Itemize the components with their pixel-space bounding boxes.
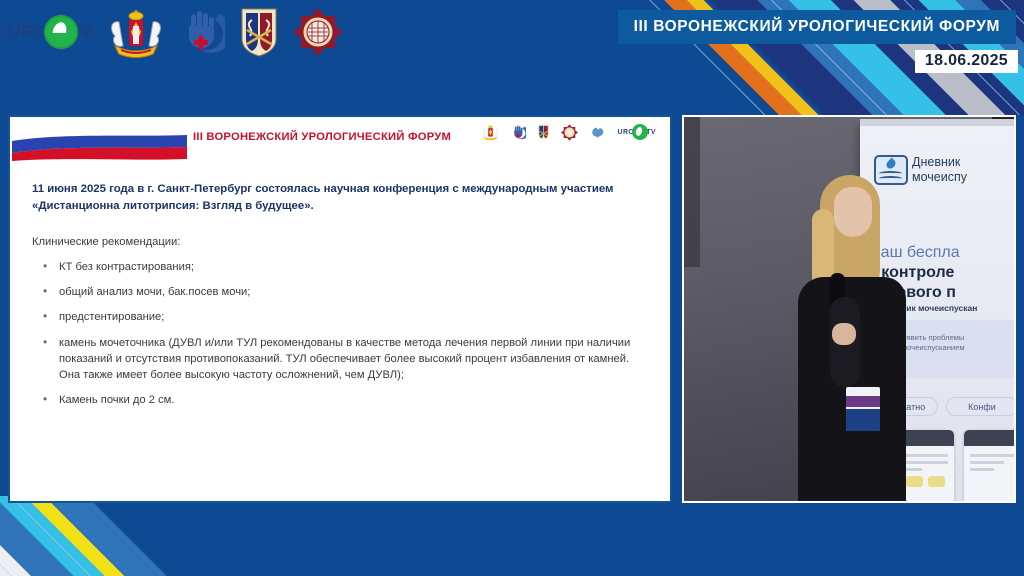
list-item: предстентирование; [32,309,648,325]
russian-flag-ribbon-icon [12,123,187,161]
date-badge: 18.06.2025 [915,50,1018,73]
lanyard [860,319,863,389]
urotv-green-ball-icon [632,124,648,140]
badge-band [846,396,880,407]
urotv-prefix: URO [8,22,49,42]
forum-title-text: III ВОРОНЕЖСКИЙ УРОЛОГИЧЕСКИЙ ФОРУМ [634,18,1000,36]
dark-red-rosette-emblem [561,124,578,141]
blue-butterfly-emblem [589,124,606,141]
slide-lead-paragraph: 11 июня 2025 года в г. Санкт-Петербург с… [32,181,632,214]
blue-hand-red-cross-emblem [179,8,225,56]
dark-left-edge [684,117,700,267]
bottom-stripe-decoration [0,496,1024,576]
slide-logo-row: URO TV [481,123,656,141]
banner-logo-title-line1: Дневник [912,155,967,170]
phone-line [970,468,994,471]
slide-subheading: Клинические рекомендации: [32,234,648,250]
blue-red-shield-emblem [239,6,279,58]
slide-body: 11 июня 2025 года в г. Санкт-Петербург с… [10,169,670,408]
phone-swatch [928,476,945,487]
list-item: Камень почки до 2 см. [32,392,648,408]
dark-red-rosette-emblem [293,7,343,57]
phone-mockup [964,430,1016,503]
blue-red-shield-emblem [537,123,550,141]
voronezh-coat-of-arms-emblem [481,123,500,141]
urotv-logo: URO TV [617,124,656,140]
speaker-figure [790,169,910,503]
badge-card [846,409,880,431]
banner-logo-title-line2: мочеиспу [912,170,967,185]
slide-title-text: III ВОРОНЕЖСКИЙ УРОЛОГИЧЕСКИЙ ФОРУМ [193,131,451,143]
list-item: камень мочеточника (ДУВЛ и/или ТУЛ реком… [32,335,648,384]
voronezh-coat-of-arms-emblem [107,6,165,58]
list-item: КТ без контрастирования; [32,259,648,275]
date-text: 18.06.2025 [925,52,1008,69]
presentation-slide[interactable]: III ВОРОНЕЖСКИЙ УРОЛОГИЧЕСКИЙ ФОРУМ [8,115,672,503]
hand [832,323,856,345]
slide-header: III ВОРОНЕЖСКИЙ УРОЛОГИЧЕСКИЙ ФОРУМ [10,117,670,169]
speaker-camera-feed[interactable]: Дневник мочеиспу Ваш беспла в контроле м… [682,115,1016,503]
banner-logo-title: Дневник мочеиспу [912,155,967,185]
banner-top-rail [860,119,1016,126]
phone-line [970,454,1016,457]
banner-pill-confidential: Конфи [946,397,1016,416]
phone-content [970,454,1016,475]
phone-header-bar [964,430,1016,446]
urotv-green-ball-icon [44,15,78,49]
list-item: общий анализ мочи, бак.посев мочи; [32,284,648,300]
face [834,187,872,237]
urotv-logo: URO TV [8,15,93,49]
partner-logo-strip: URO TV [8,4,343,60]
forum-title-plate: III ВОРОНЕЖСКИЙ УРОЛОГИЧЕСКИЙ ФОРУМ [618,10,1016,44]
slide-bullet-list: КТ без контрастирования; общий анализ мо… [32,259,648,408]
broadcast-stage: URO TV [0,0,1024,576]
conference-badge [846,387,880,431]
phone-line [970,461,1004,464]
blue-hand-red-cross-emblem [511,124,526,141]
